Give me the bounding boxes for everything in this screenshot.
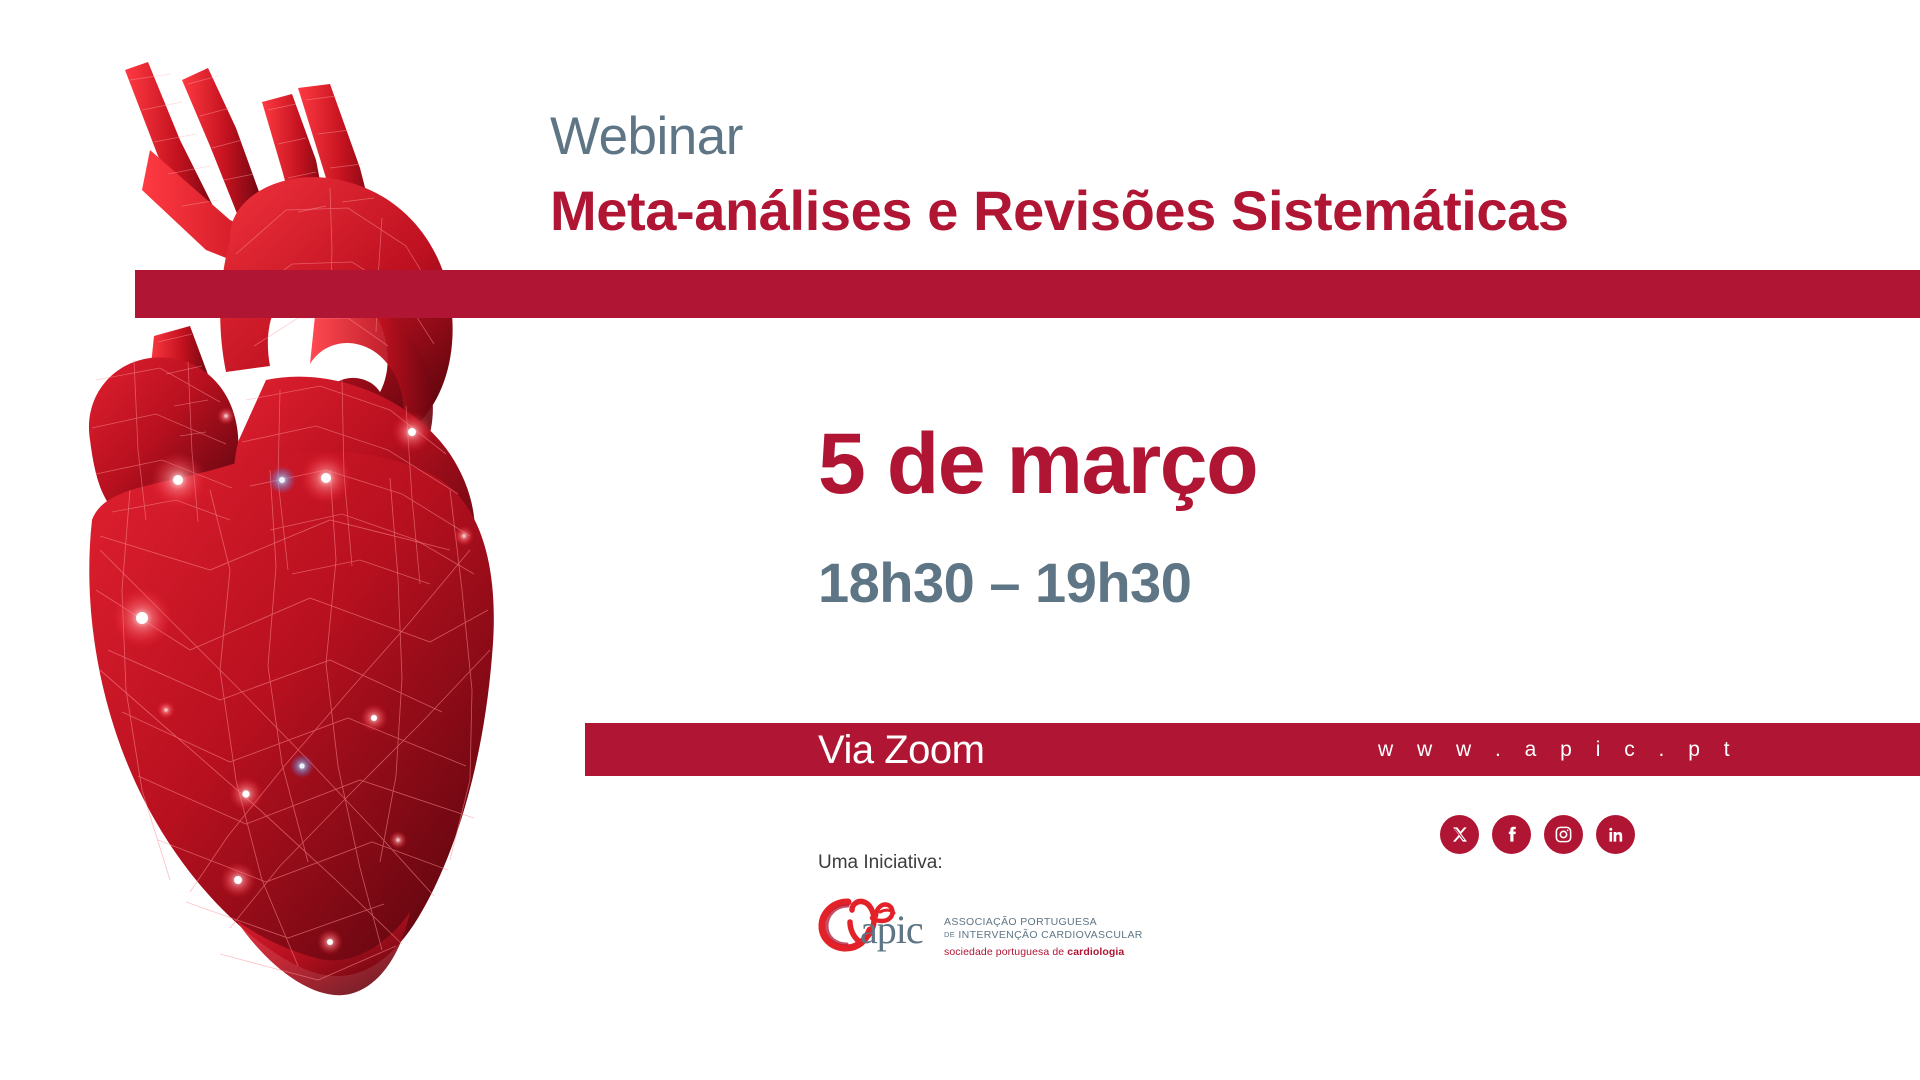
event-date: 5 de março	[818, 415, 1257, 514]
website-url[interactable]: w w w . a p i c . p t	[1378, 734, 1739, 766]
x-twitter-icon[interactable]	[1440, 815, 1479, 854]
apic-society-bold: cardiologia	[1067, 946, 1124, 958]
initiative-label: Uma Iniciativa:	[818, 852, 943, 874]
apic-association-line1: ASSOCIAÇÃO PORTUGUESA	[944, 916, 1143, 929]
event-time: 18h30 – 19h30	[818, 550, 1191, 615]
page-title: Meta-análises e Revisões Sistemáticas	[550, 178, 1569, 243]
social-links	[1440, 815, 1635, 854]
webinar-kicker: Webinar	[550, 106, 743, 167]
event-platform: Via Zoom	[818, 728, 984, 772]
poster-canvas: Webinar Meta-análises e Revisões Sistemá…	[0, 0, 1920, 1080]
apic-line2-prefix: DE	[944, 930, 955, 939]
apic-logo-text: ASSOCIAÇÃO PORTUGUESA DE INTERVENÇÃO CAR…	[944, 890, 1143, 958]
instagram-icon[interactable]	[1544, 815, 1583, 854]
apic-line2-text: INTERVENÇÃO CARDIOVASCULAR	[958, 929, 1142, 941]
apic-society-plain: sociedade portuguesa de	[944, 946, 1067, 958]
apic-heart-swirl-logo: apic	[818, 890, 938, 952]
apic-wordmark: apic	[860, 906, 923, 953]
apic-society-line: sociedade portuguesa de cardiologia	[944, 946, 1143, 959]
facebook-icon[interactable]	[1492, 815, 1531, 854]
apic-logo: apic ASSOCIAÇÃO PORTUGUESA DE INTERVENÇÃ…	[818, 890, 1143, 958]
decorative-band-top	[135, 270, 1920, 318]
apic-association-line2: DE INTERVENÇÃO CARDIOVASCULAR	[944, 929, 1143, 942]
linkedin-icon[interactable]	[1596, 815, 1635, 854]
